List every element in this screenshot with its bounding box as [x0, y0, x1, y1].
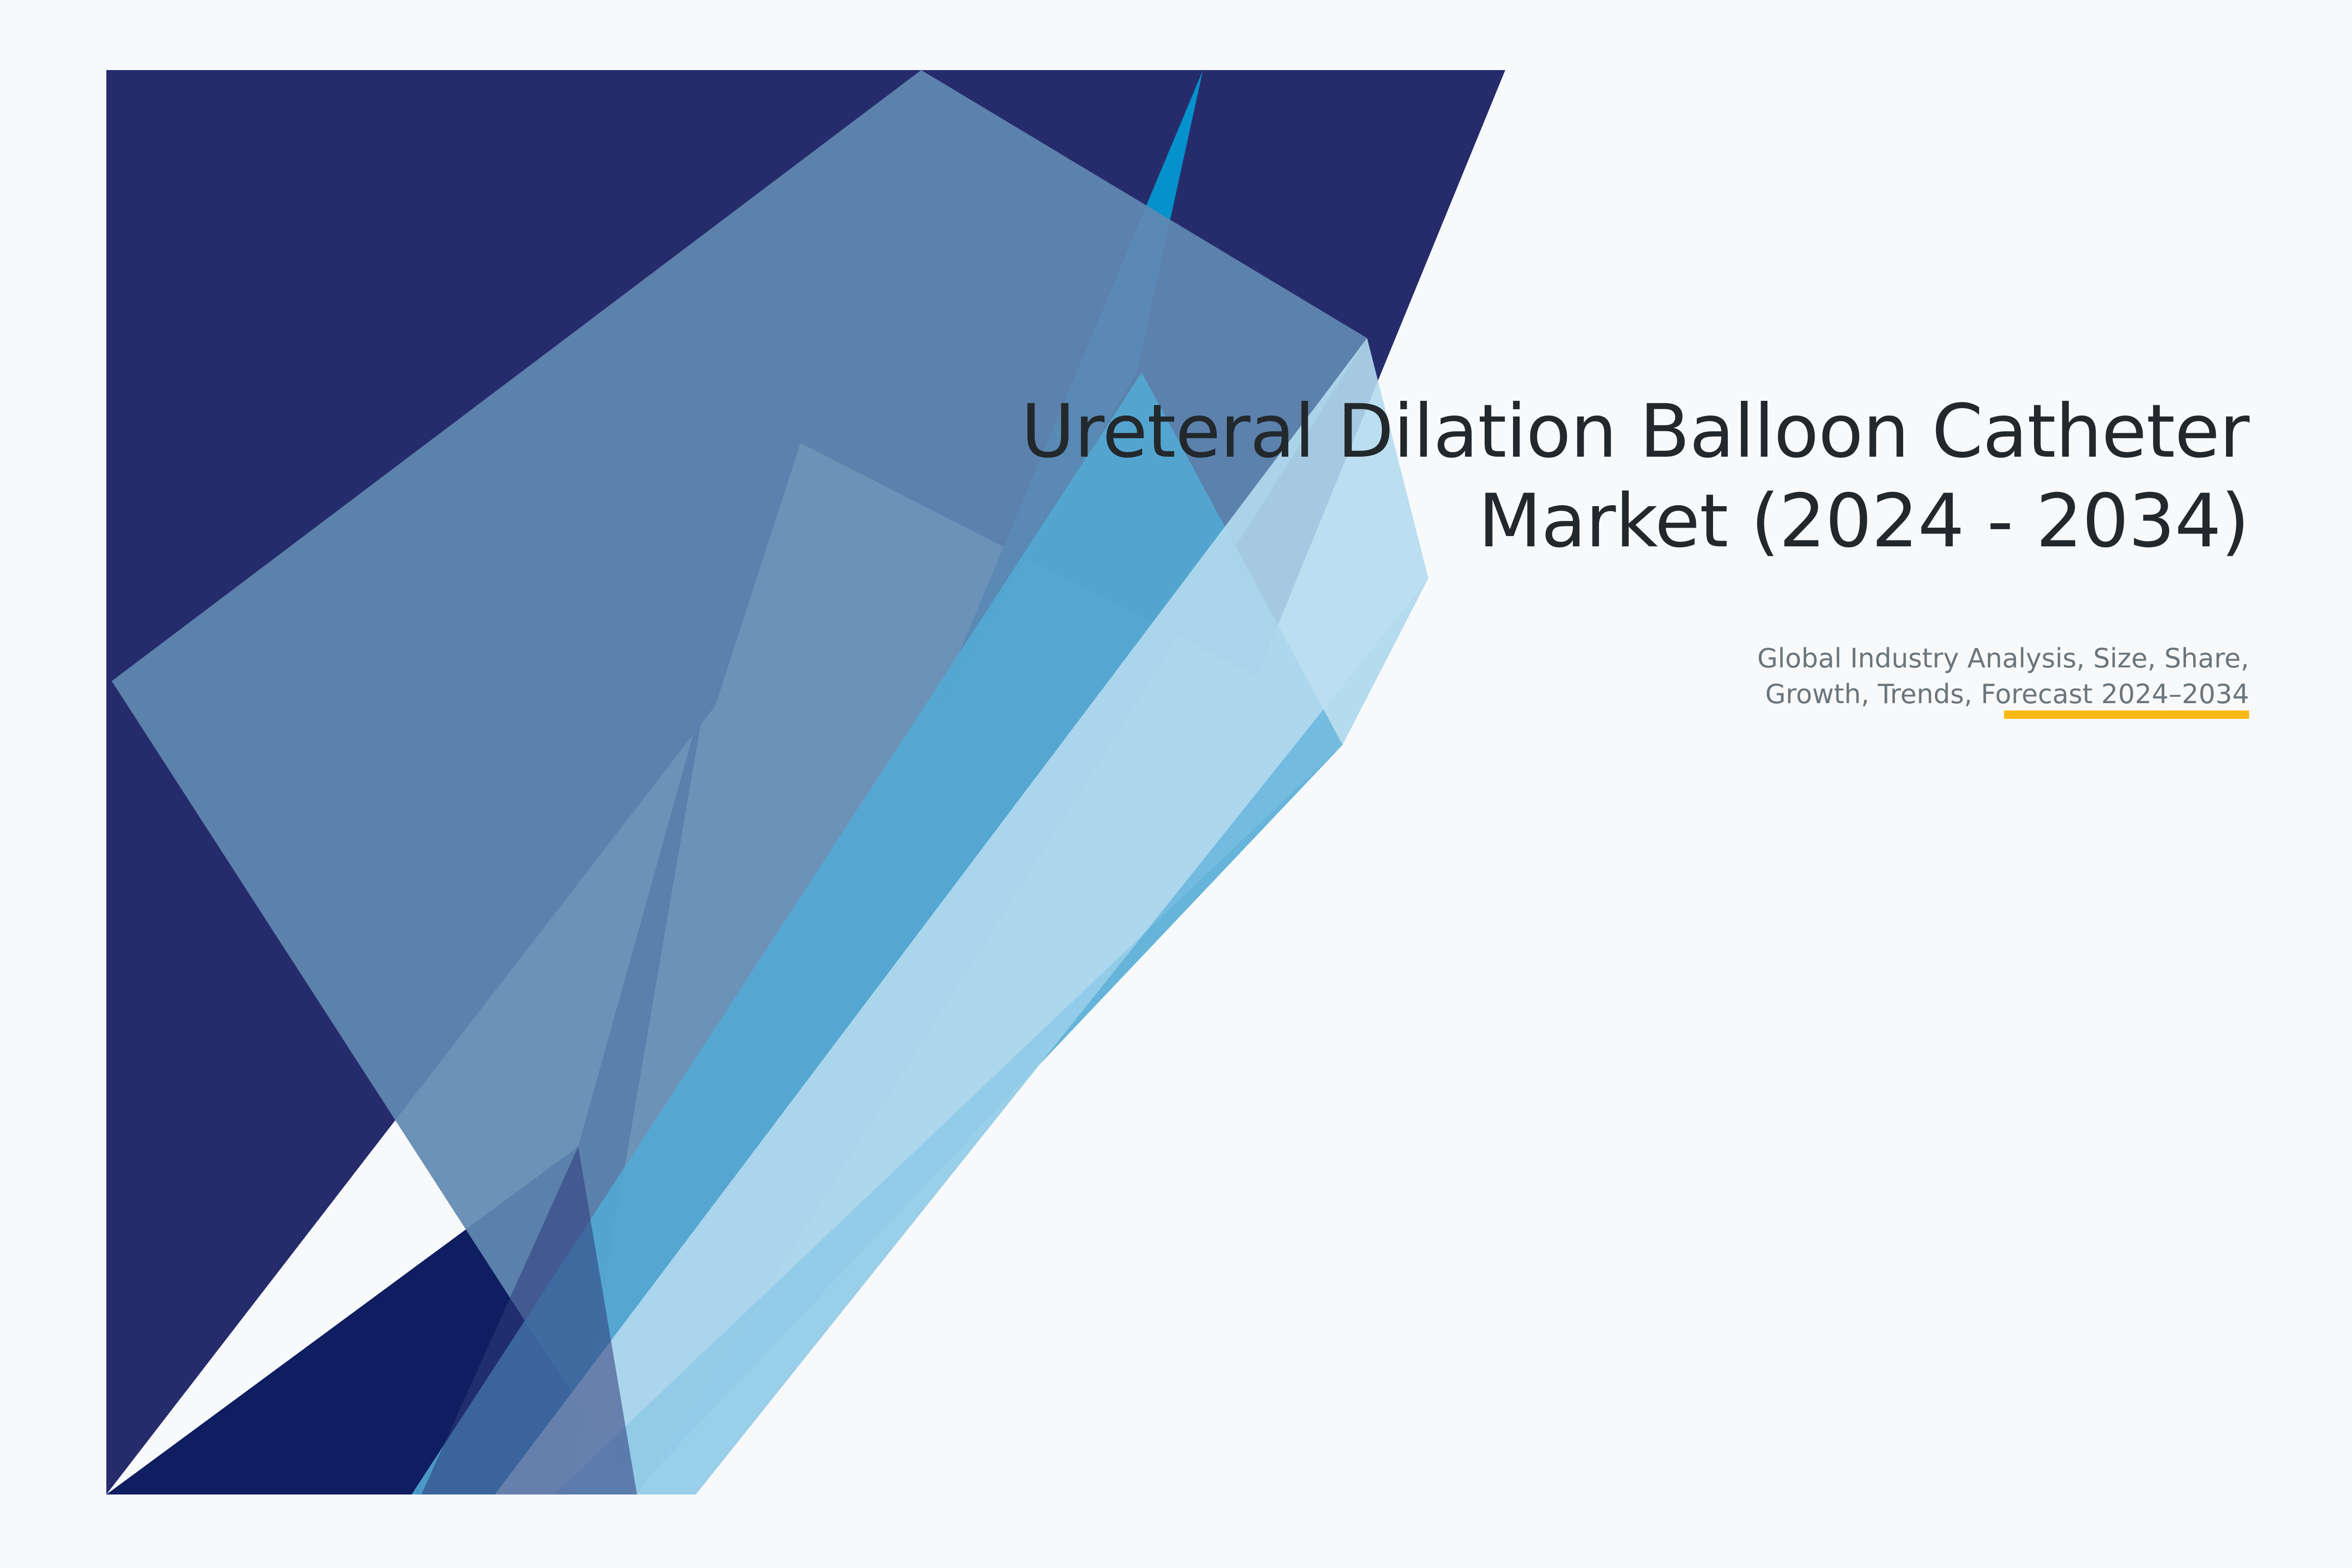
page-subtitle: Global Industry Analysis, Size, Share, G… [960, 566, 2249, 712]
accent-underline [2004, 710, 2249, 719]
page-title-line-1: Ureteral Dilation Balloon Catheter [1021, 389, 2249, 474]
page-subtitle-line-1: Global Industry Analysis, Size, Share, [1757, 643, 2249, 674]
abstract-geometric-artwork [0, 0, 2352, 1568]
page-subtitle-line-2: Growth, Trends, Forecast 2024–2034 [1765, 679, 2249, 710]
cover-text-block: Ureteral Dilation Balloon CatheterMarket… [960, 387, 2249, 712]
cover-page: Ureteral Dilation Balloon CatheterMarket… [0, 0, 2352, 1568]
page-title-line-2: Market (2024 - 2034) [1478, 479, 2249, 564]
page-title: Ureteral Dilation Balloon CatheterMarket… [960, 387, 2249, 566]
